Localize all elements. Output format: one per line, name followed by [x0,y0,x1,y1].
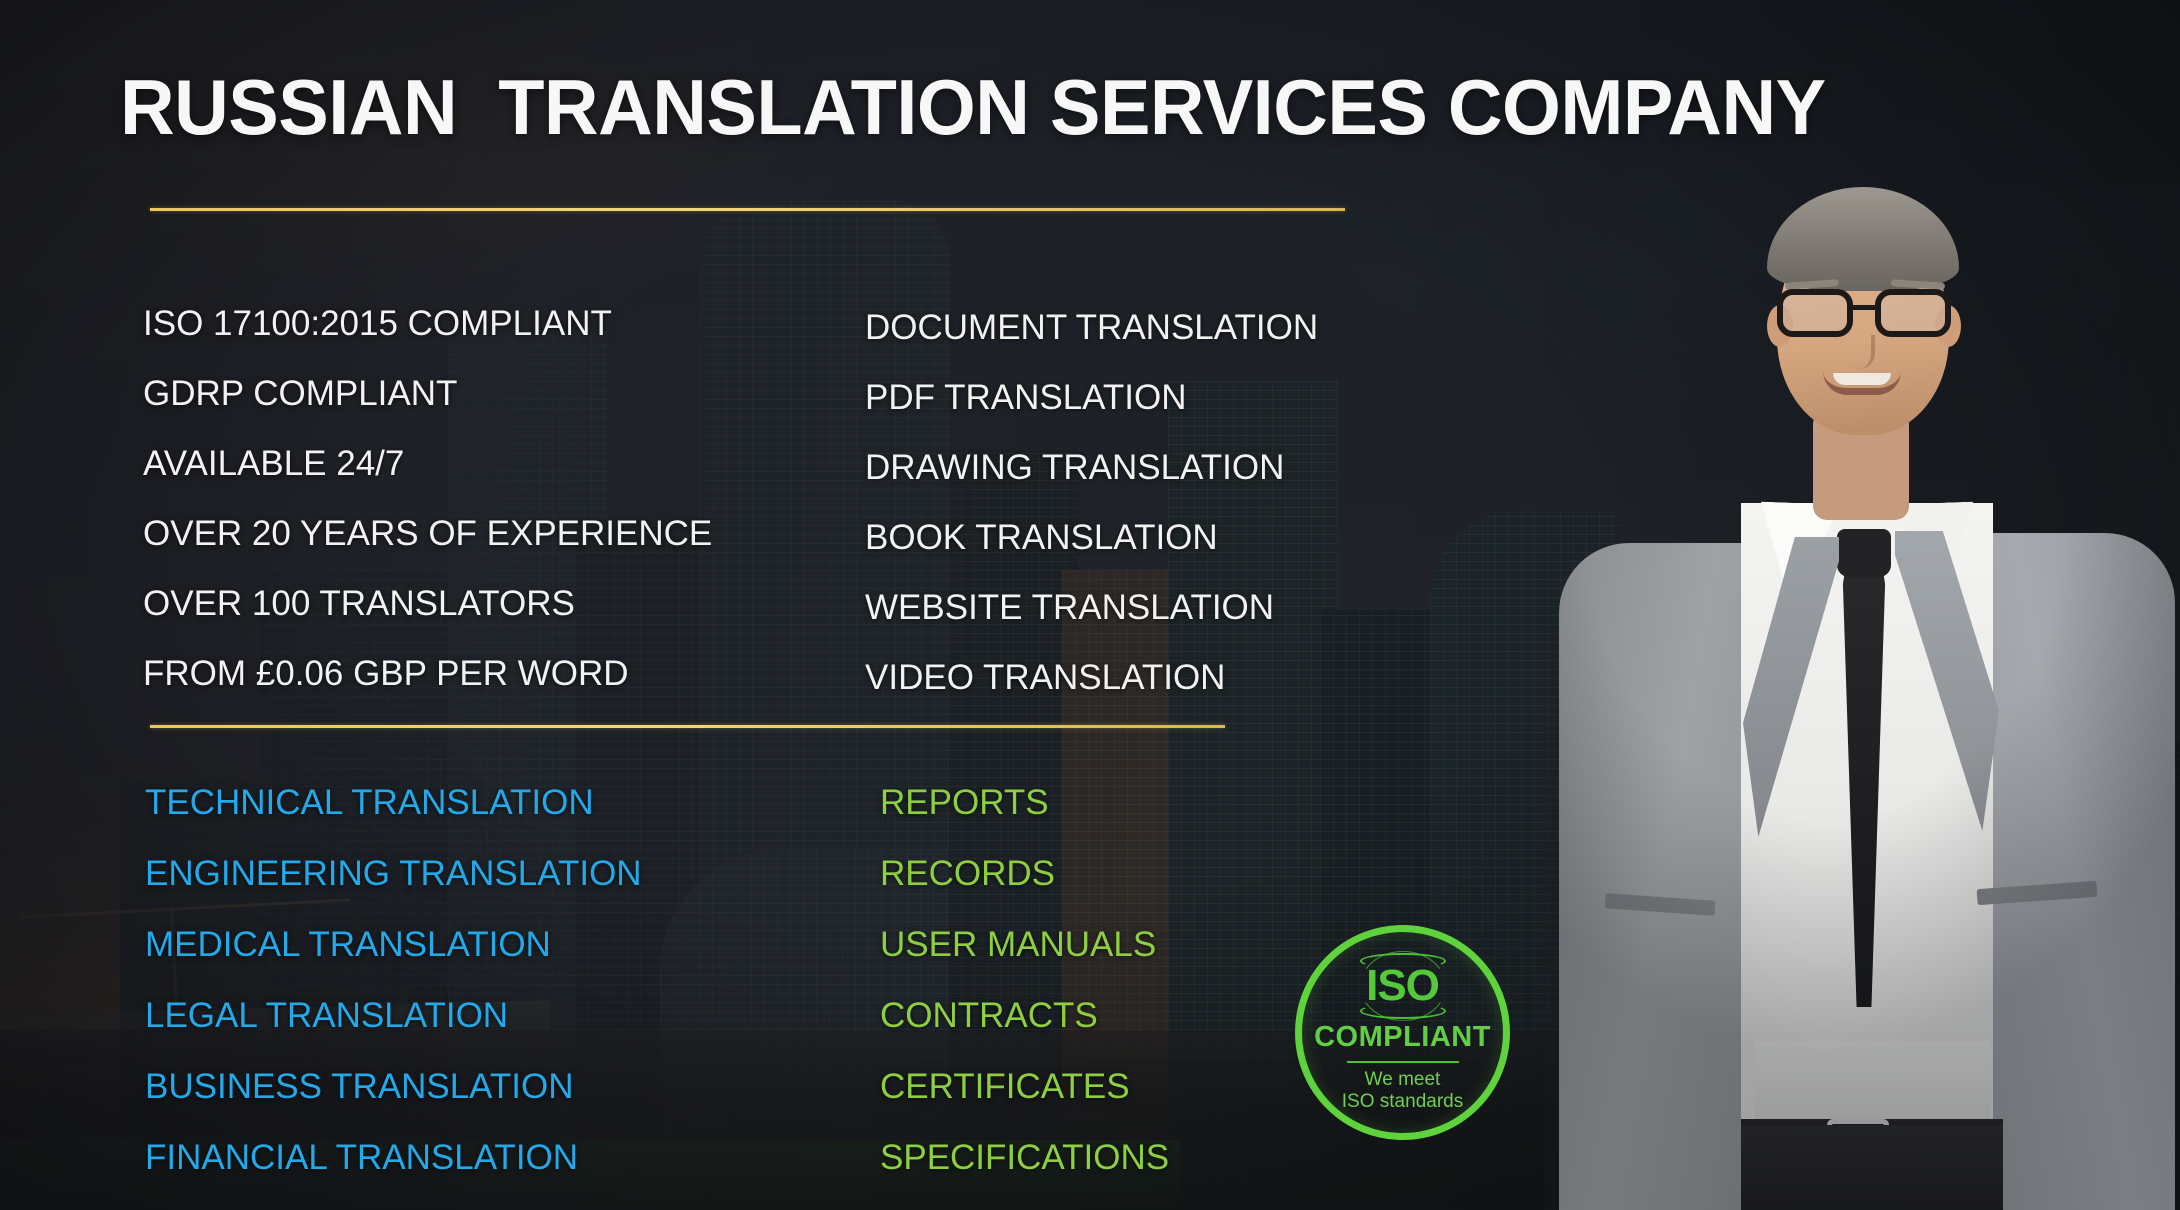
list-item: CONTRACTS [880,980,1169,1051]
iso-subtext-line1: We meet [1365,1069,1441,1091]
list-item: MEDICAL TRANSLATION [145,909,642,980]
list-item: DRAWING TRANSLATION [865,432,1318,502]
list-item: RECORDS [880,838,1169,909]
title-highlight: RUSSIAN [120,63,457,151]
globe-icon: ISO [1349,955,1457,1017]
list-item: OVER 100 TRANSLATORS [143,568,712,638]
iso-compliant-badge: ISO COMPLIANT We meet ISO standards [1295,925,1510,1140]
features-right-list: DOCUMENT TRANSLATION PDF TRANSLATION DRA… [865,292,1318,712]
figure-shading [1545,185,2180,1210]
list-item: FROM £0.06 GBP PER WORD [143,638,712,708]
iso-subtext-line2: ISO standards [1342,1091,1463,1113]
title-rest: TRANSLATION SERVICES COMPANY [498,63,1825,151]
list-item: ENGINEERING TRANSLATION [145,838,642,909]
businessman-photo [1545,185,2180,1210]
features-left-list: ISO 17100:2015 COMPLIANT GDRP COMPLIANT … [143,288,712,708]
list-item: VIDEO TRANSLATION [865,642,1318,712]
list-item: REPORTS [880,767,1169,838]
list-item: BOOK TRANSLATION [865,502,1318,572]
list-item: AVAILABLE 24/7 [143,428,712,498]
list-item: CERTIFICATES [880,1051,1169,1122]
list-item: DOCUMENT TRANSLATION [865,292,1318,362]
list-item: SPECIFICATIONS [880,1122,1169,1193]
page-title: RUSSIAN TRANSLATION SERVICES COMPANY [120,62,1826,153]
iso-status-text: COMPLIANT [1314,1021,1491,1054]
marketing-banner: RUSSIAN TRANSLATION SERVICES COMPANY ISO… [0,0,2180,1210]
list-item: ISO 17100:2015 COMPLIANT [143,288,712,358]
services-left-list: TECHNICAL TRANSLATION ENGINEERING TRANSL… [145,767,642,1193]
list-item: WEBSITE TRANSLATION [865,572,1318,642]
services-right-list: REPORTS RECORDS USER MANUALS CONTRACTS C… [880,767,1169,1193]
list-item: LEGAL TRANSLATION [145,980,642,1051]
list-item: USER MANUALS [880,909,1169,980]
iso-mark-text: ISO [1366,964,1439,1008]
divider-middle [150,725,1225,728]
iso-divider [1347,1061,1459,1063]
list-item: TECHNICAL TRANSLATION [145,767,642,838]
list-item: PDF TRANSLATION [865,362,1318,432]
list-item: GDRP COMPLIANT [143,358,712,428]
list-item: FINANCIAL TRANSLATION [145,1122,642,1193]
divider-top [150,208,1345,211]
list-item: BUSINESS TRANSLATION [145,1051,642,1122]
list-item: OVER 20 YEARS OF EXPERIENCE [143,498,712,568]
